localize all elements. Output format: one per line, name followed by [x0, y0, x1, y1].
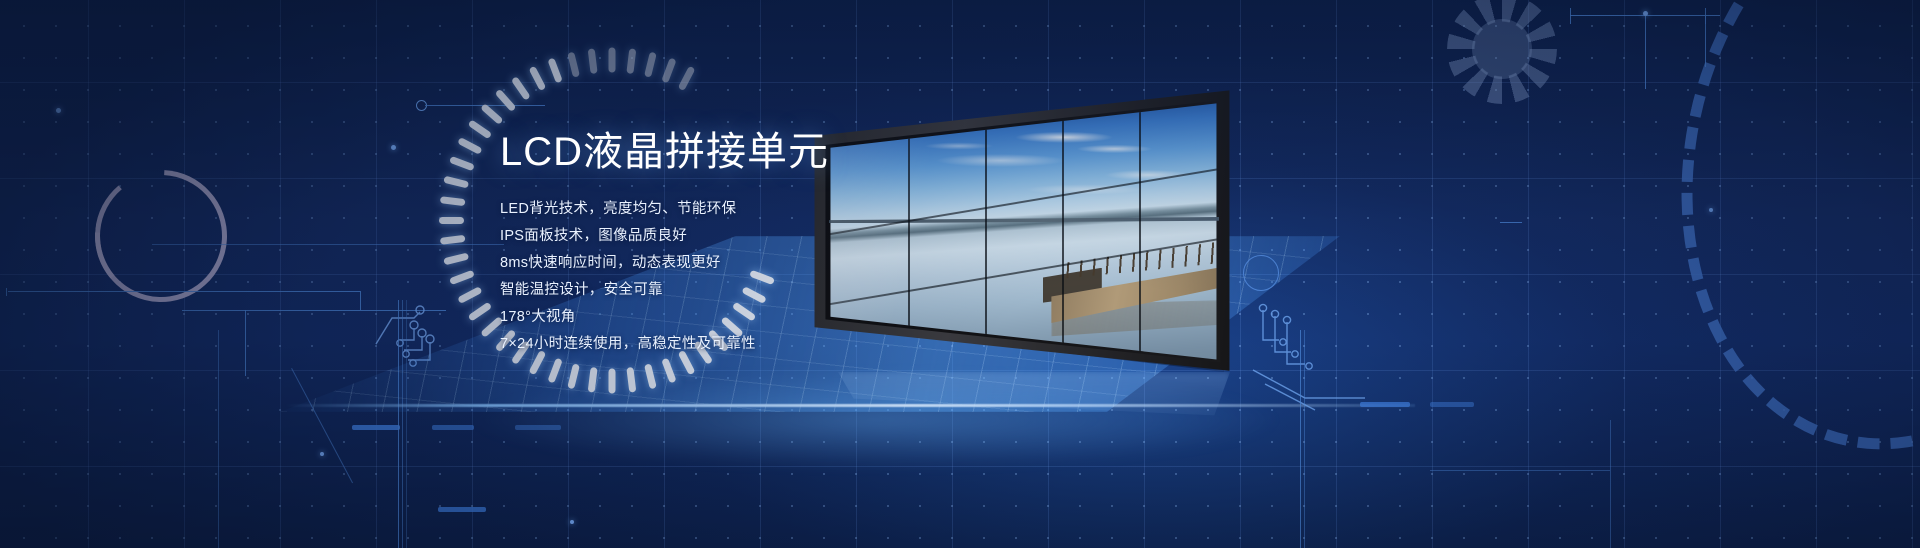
- background-vignette: [0, 0, 1920, 548]
- feature-item: LED背光技术，亮度均匀、节能环保: [500, 196, 930, 222]
- feature-list: LED背光技术，亮度均匀、节能环保 IPS面板技术，图像品质良好 8ms快速响应…: [500, 196, 930, 357]
- feature-item: 7×24小时连续使用，高稳定性及可靠性: [500, 331, 930, 357]
- feature-item: 178°大视角: [500, 304, 930, 330]
- feature-item: 智能温控设计，安全可靠: [500, 277, 930, 303]
- feature-item: 8ms快速响应时间，动态表现更好: [500, 250, 930, 276]
- hero-banner: LCD液晶拼接单元 LED背光技术，亮度均匀、节能环保 IPS面板技术，图像品质…: [0, 0, 1920, 548]
- page-title: LCD液晶拼接单元: [500, 132, 930, 172]
- feature-item: IPS面板技术，图像品质良好: [500, 223, 930, 249]
- banner-copy: LCD液晶拼接单元 LED背光技术，亮度均匀、节能环保 IPS面板技术，图像品质…: [500, 132, 930, 358]
